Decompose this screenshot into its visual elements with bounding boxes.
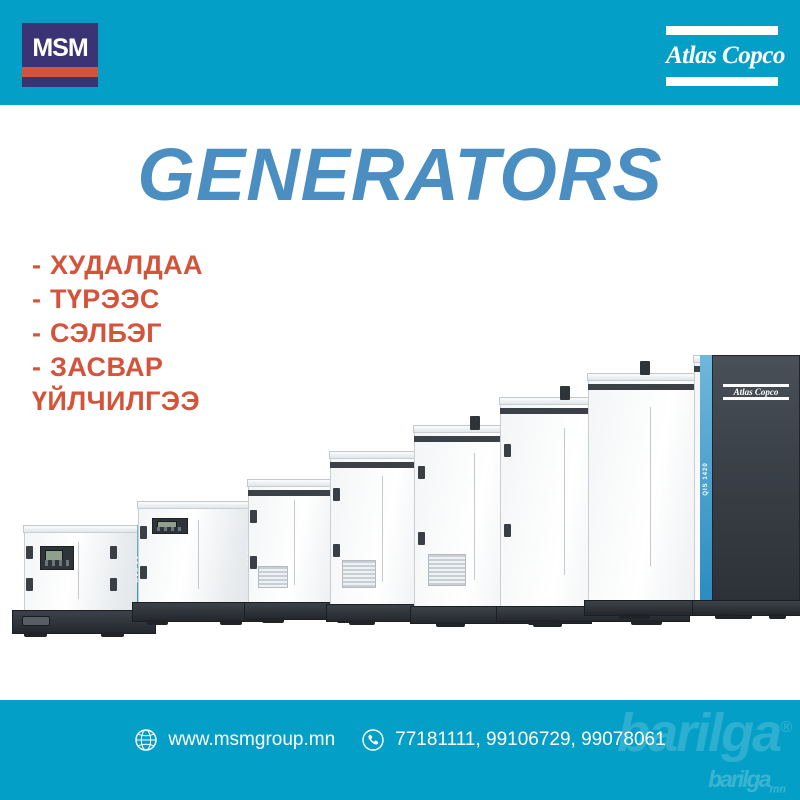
base-foot [24, 632, 47, 637]
unit-lifting-lug [470, 416, 480, 430]
atlas-copco-logo: Atlas Copco [666, 26, 778, 86]
unit-hinge [504, 444, 511, 457]
service-dash: - [32, 248, 50, 282]
unit-door-seam [474, 453, 475, 580]
unit-hinge [250, 556, 257, 569]
unit-hinge [333, 488, 340, 501]
poster-canvas: MSM Atlas Copco GENERATORS -ХУДАЛДАА -ТҮ… [0, 0, 800, 800]
generator-unit-7: QIS 1420 Atlas Copco [694, 362, 800, 602]
website-contact[interactable]: www.msmgroup.mn [134, 728, 335, 752]
unit-door-seam [294, 500, 295, 585]
base-foot [631, 620, 662, 625]
unit-door-seam [382, 476, 383, 583]
base-foot [769, 614, 786, 619]
base-foot [715, 614, 732, 619]
unit-accent-stripe: QIS 1420 [700, 355, 712, 602]
unit-grille [342, 560, 376, 588]
unit-base-skid [692, 600, 800, 616]
base-foot [147, 620, 169, 625]
unit-hinge [418, 532, 425, 545]
control-panel-buttons [45, 560, 70, 566]
unit-door-seam [78, 542, 79, 600]
service-item-0: -ХУДАЛДАА [32, 248, 362, 282]
service-item-1: -ТҮРЭЭС [32, 282, 362, 316]
base-foot [528, 620, 559, 625]
service-dash: - [32, 282, 50, 316]
msm-logo-orange-bar [22, 67, 98, 77]
unit-door-seam [650, 407, 651, 567]
globe-icon [134, 728, 158, 752]
msm-logo: MSM [22, 23, 98, 87]
unit-body [24, 532, 152, 612]
base-hatch [22, 616, 50, 626]
unit-lifting-lug [640, 361, 650, 375]
page-title: GENERATORS [0, 136, 800, 214]
base-foot [262, 618, 284, 623]
unit-model-label: QIS 1420 [703, 462, 709, 495]
unit-lifting-lug [560, 386, 570, 400]
unit-door-seam [564, 428, 565, 575]
phone-contact[interactable]: 77181111, 99106729, 99078061 [361, 728, 666, 752]
unit-control-panel [40, 546, 74, 570]
unit-hinge [250, 510, 257, 523]
service-label: ХУДАЛДАА [50, 250, 203, 280]
generator-unit-0: QAS 14 [24, 532, 152, 612]
unit-hinge [504, 524, 511, 537]
unit-grille [428, 554, 466, 586]
unit-atlas-mark: Atlas Copco [723, 384, 788, 400]
service-label: ТҮРЭЭС [50, 284, 160, 314]
phone-label: 77181111, 99106729, 99078061 [395, 729, 666, 751]
unit-end-panel: Atlas Copco [712, 355, 800, 602]
unit-hinge [26, 578, 33, 591]
unit-hinge [333, 544, 340, 557]
atlas-mark-bar [723, 397, 788, 400]
website-label: www.msmgroup.mn [168, 729, 335, 751]
base-foot [619, 614, 649, 619]
generator-lineup-image: QAS 14 QAS 40 [0, 340, 800, 660]
unit-hinge [26, 546, 33, 559]
atlas-logo-top-bar [666, 26, 778, 35]
unit-hinge [418, 466, 425, 479]
atlas-mark-text: Atlas Copco [723, 387, 788, 397]
msm-logo-navy-bar [22, 77, 98, 87]
atlas-logo-text: Atlas Copco [666, 37, 778, 75]
phone-icon [361, 728, 385, 752]
unit-door-seam [198, 520, 199, 589]
unit-hinge [110, 546, 117, 559]
control-panel-buttons [157, 527, 184, 531]
footer-contact-bar: www.msmgroup.mn 77181111, 99106729, 9907… [0, 728, 800, 752]
base-foot [349, 620, 375, 625]
unit-control-panel [152, 518, 188, 534]
unit-hinge [110, 578, 117, 591]
unit-hinge [140, 566, 147, 579]
base-foot [436, 622, 465, 627]
base-foot [101, 632, 124, 637]
msm-logo-text: MSM [22, 36, 98, 61]
atlas-logo-bottom-bar [666, 77, 778, 86]
base-foot [220, 620, 242, 625]
unit-grille [258, 566, 288, 588]
unit-hinge [140, 526, 147, 539]
